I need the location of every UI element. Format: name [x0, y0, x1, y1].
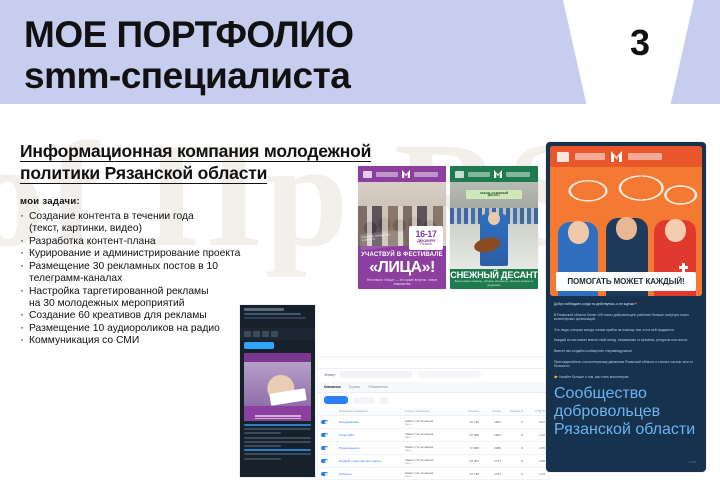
- agency-logo-icon: [455, 171, 464, 178]
- telegram-post-line: [244, 313, 301, 315]
- row-clicks: 1861: [482, 416, 504, 429]
- table-row[interactable]: Предпринима...Status: Не активнаяЦель45 …: [318, 416, 548, 429]
- poster-faces-footer: Фестиваль «Лица» — это яркие встречи, но…: [362, 278, 442, 286]
- molodezh-logo-text: [506, 172, 530, 177]
- telegram-post-line: [244, 317, 306, 319]
- row-clicks: 2080: [482, 442, 504, 455]
- table-row[interactable]: Лица 2023Status: Не активнаяЦель37 56818…: [318, 429, 548, 442]
- volunteer-paragraph: Это люди, которые всегда готовы прийти н…: [554, 328, 698, 333]
- list-item: Размещение 30 рекламных постов в 10 теле…: [18, 261, 308, 285]
- slide-number: 3: [610, 22, 670, 64]
- row-ctr: 4.12: [526, 429, 548, 442]
- row-shows: 43 481: [460, 455, 482, 468]
- volunteer-banner: ПОМОГАТЬ МОЖЕТ КАЖДЫЙ!: [556, 272, 696, 291]
- list-item: Курирование и администрирование проекта: [18, 248, 308, 260]
- row-toggle[interactable]: [318, 416, 336, 429]
- analytics-actions: [318, 394, 548, 406]
- table-header-row: Название кампании Статус кампании Показы…: [318, 407, 548, 416]
- search-input[interactable]: [340, 371, 412, 378]
- tab-groups[interactable]: Группы: [349, 385, 360, 389]
- row-spend: 0: [504, 416, 526, 429]
- telegram-channel-name: [244, 308, 284, 311]
- tab-ads[interactable]: Объявления: [368, 385, 388, 389]
- col-shows: Показы: [460, 407, 482, 416]
- molodezh-logo-icon: [611, 151, 622, 162]
- heart-icon: ❤: [634, 302, 637, 306]
- volunteer-person-2-head: [616, 217, 637, 240]
- telegram-post-header: [240, 305, 315, 327]
- poster-faces-date-badge: 16-17 ДЕКАБРЯ Рязань: [409, 226, 443, 250]
- col-clicks: Клики: [482, 407, 504, 416]
- row-name[interactable]: Профориента...: [336, 442, 402, 455]
- row-shows: 72 868: [460, 442, 482, 455]
- volunteer-post-card: ПОМОГАТЬ МОЖЕТ КАЖДЫЙ! Добро побеждает, …: [546, 142, 706, 472]
- row-shows: 37 568: [460, 429, 482, 442]
- row-name[interactable]: Предпринима...: [336, 416, 402, 429]
- telegram-reaction-bar: [240, 328, 315, 340]
- campaigns-table: Название кампании Статус кампании Показы…: [318, 407, 548, 479]
- volunteer-paragraph: 👉 Узнайте больше о том, как стать волонт…: [554, 375, 698, 380]
- table-row[interactable]: СобытиеStatus: Не активнаяЦель33 1381751…: [318, 468, 548, 480]
- row-name[interactable]: Событие: [336, 468, 402, 480]
- row-status: Status: Не активнаяЦель: [402, 429, 460, 442]
- telegram-post-image-header: [244, 353, 311, 362]
- poster-faces-logos: [363, 170, 441, 178]
- row-status: Status: Не активнаяЦель: [402, 442, 460, 455]
- filter-label: Фильтр: [324, 373, 335, 377]
- row-ctr: 3.14: [526, 468, 548, 480]
- poster-snow-badge: ЗАЕЗД «СНЕЖНЫЙ ДЕСАНТ»: [466, 190, 522, 199]
- poster-snow: ЗАЕЗД «СНЕЖНЫЙ ДЕСАНТ» СНЕЖНЫЙ ДЕСАНТ Во…: [450, 166, 538, 289]
- telegram-post-body: [244, 424, 311, 462]
- list-item: Создание контента в течении года (текст,…: [18, 211, 308, 235]
- period-select[interactable]: [417, 371, 481, 378]
- row-name[interactable]: Лица 2023: [336, 429, 402, 442]
- poster-faces-ribbon: Фестиваль молодежных сообществ: [359, 230, 404, 251]
- telegram-post-image-caption: [244, 414, 311, 419]
- agency-logo-text: [376, 172, 398, 177]
- volunteer-paragraph: Каждый из нас может внести свой вклад, н…: [554, 338, 698, 343]
- row-name[interactable]: Первый открытый фестиваль: [336, 455, 402, 468]
- volunteer-person-3-head: [665, 219, 686, 242]
- actions-dropdown[interactable]: [353, 397, 375, 404]
- agency-logo-text: [575, 153, 605, 160]
- molodezh-logo-text: [628, 153, 662, 160]
- row-status: Status: Не активнаяЦель: [402, 455, 460, 468]
- poster-snow-footer: Волонтеры помощь, уборка, концерты, маст…: [454, 280, 534, 288]
- poster-snow-logos: [455, 170, 533, 178]
- list-item: Разработка контент-плана: [18, 236, 308, 248]
- row-spend: 0: [504, 442, 526, 455]
- col-spend: Расход ₽: [504, 407, 526, 416]
- analytics-tabs: Кампании Группы Объявления: [318, 382, 548, 393]
- analytics-filter-row: Фильтр: [318, 368, 548, 381]
- row-clicks: 1774: [482, 455, 504, 468]
- row-spend: 0: [504, 455, 526, 468]
- section-heading-text: Информационная компания молодежной полит…: [20, 141, 371, 184]
- slide-root: of Пр RSA МОЕ ПОРТФОЛИО smm-специалиста …: [0, 0, 720, 480]
- row-spend: 0: [504, 468, 526, 480]
- volunteer-paragraph-text: Добро побеждает, когда ты действуешь, а …: [554, 302, 634, 306]
- agency-logo-icon: [363, 171, 372, 178]
- molodezh-logo-text: [414, 172, 438, 177]
- medical-cross-icon: [679, 263, 688, 272]
- volunteer-community-link[interactable]: Сообщество добровольцев Рязанской област…: [554, 385, 698, 439]
- tab-campaigns[interactable]: Кампании: [324, 385, 341, 389]
- ads-analytics-screenshot: Фильтр Кампании Группы Объявления Назван…: [318, 357, 548, 479]
- row-toggle[interactable]: [318, 429, 336, 442]
- col-status: Статус кампании: [402, 407, 460, 416]
- agency-logo-icon: [557, 152, 569, 162]
- reaction-chip[interactable]: [253, 331, 260, 337]
- reaction-chip[interactable]: [271, 331, 278, 337]
- row-status: Status: Не активнаяЦель: [402, 416, 460, 429]
- row-spend: 0: [504, 429, 526, 442]
- row-toggle[interactable]: [318, 442, 336, 455]
- col-ctr: CTR %: [526, 407, 548, 416]
- slide-header: МОЕ ПОРТФОЛИО smm-специалиста 3: [0, 0, 720, 116]
- row-clicks: 1751: [482, 468, 504, 480]
- volunteer-person-1-head: [568, 221, 589, 244]
- poster-snow-badge-line2: ДЕСАНТ»: [488, 195, 500, 198]
- row-ctr: 4.07: [526, 416, 548, 429]
- volunteer-post-text: Добро побеждает, когда ты действуешь, а …: [554, 302, 698, 439]
- volunteer-paragraph: Добро побеждает, когда ты действуешь, а …: [554, 302, 698, 307]
- volunteer-paragraph: Присоединяйтесь к волонтерскому движению…: [554, 360, 698, 369]
- table-row[interactable]: Профориента...Status: Не активнаяЦель72 …: [318, 442, 548, 455]
- poster-faces: Фестиваль молодежных сообществ 16-17 ДЕК…: [358, 166, 446, 289]
- poster-faces-title: «ЛИЦА»!: [358, 259, 446, 277]
- col-toggle: [318, 407, 336, 416]
- row-ctr: 4.08: [526, 455, 548, 468]
- post-timestamp: 14:00: [688, 460, 696, 464]
- row-shows: 45 738: [460, 416, 482, 429]
- molodezh-logo-icon: [494, 170, 502, 178]
- telegram-post-image: [244, 353, 311, 421]
- poster-snow-face: [488, 212, 500, 225]
- row-ctr: 2.85: [526, 442, 548, 455]
- table-row[interactable]: Первый открытый фестивальStatus: Не акти…: [318, 455, 548, 468]
- page-title: МОЕ ПОРТФОЛИО smm-специалиста: [24, 14, 544, 96]
- row-toggle[interactable]: [318, 455, 336, 468]
- columns-settings-icon[interactable]: [380, 397, 388, 404]
- volunteer-paragraph: Вместе мы создаём сообщество «неравнодуш…: [554, 349, 698, 354]
- poster-faces-cta: УЧАСТВУЙ В ФЕСТИВАЛЕ: [358, 252, 446, 258]
- reaction-chip[interactable]: [244, 331, 251, 337]
- volunteer-banner-text: ПОМОГАТЬ МОЖЕТ КАЖДЫЙ!: [567, 277, 684, 286]
- telegram-action-button[interactable]: [244, 342, 274, 349]
- reaction-chip[interactable]: [262, 331, 269, 337]
- volunteer-image: ПОМОГАТЬ МОЖЕТ КАЖДЫЙ!: [550, 146, 702, 296]
- campaigns-table-body: Предпринима...Status: Не активнаяЦель45 …: [318, 416, 548, 480]
- volunteer-paragraph: В Рязанской области более 105 тысяч добр…: [554, 313, 698, 322]
- col-name: Название кампании: [336, 407, 402, 416]
- tasks-label: мои задачи:: [20, 196, 80, 207]
- row-toggle[interactable]: [318, 468, 336, 480]
- agency-logo-text: [468, 172, 490, 177]
- row-status: Status: Не активнаяЦель: [402, 468, 460, 480]
- row-shows: 33 138: [460, 468, 482, 480]
- molodezh-logo-icon: [402, 170, 410, 178]
- create-button[interactable]: [324, 396, 348, 404]
- volunteer-image-logos: [550, 146, 702, 167]
- row-clicks: 1862: [482, 429, 504, 442]
- poster-faces-date-city: Рязань: [420, 243, 432, 247]
- telegram-dark-mockup: [240, 305, 315, 477]
